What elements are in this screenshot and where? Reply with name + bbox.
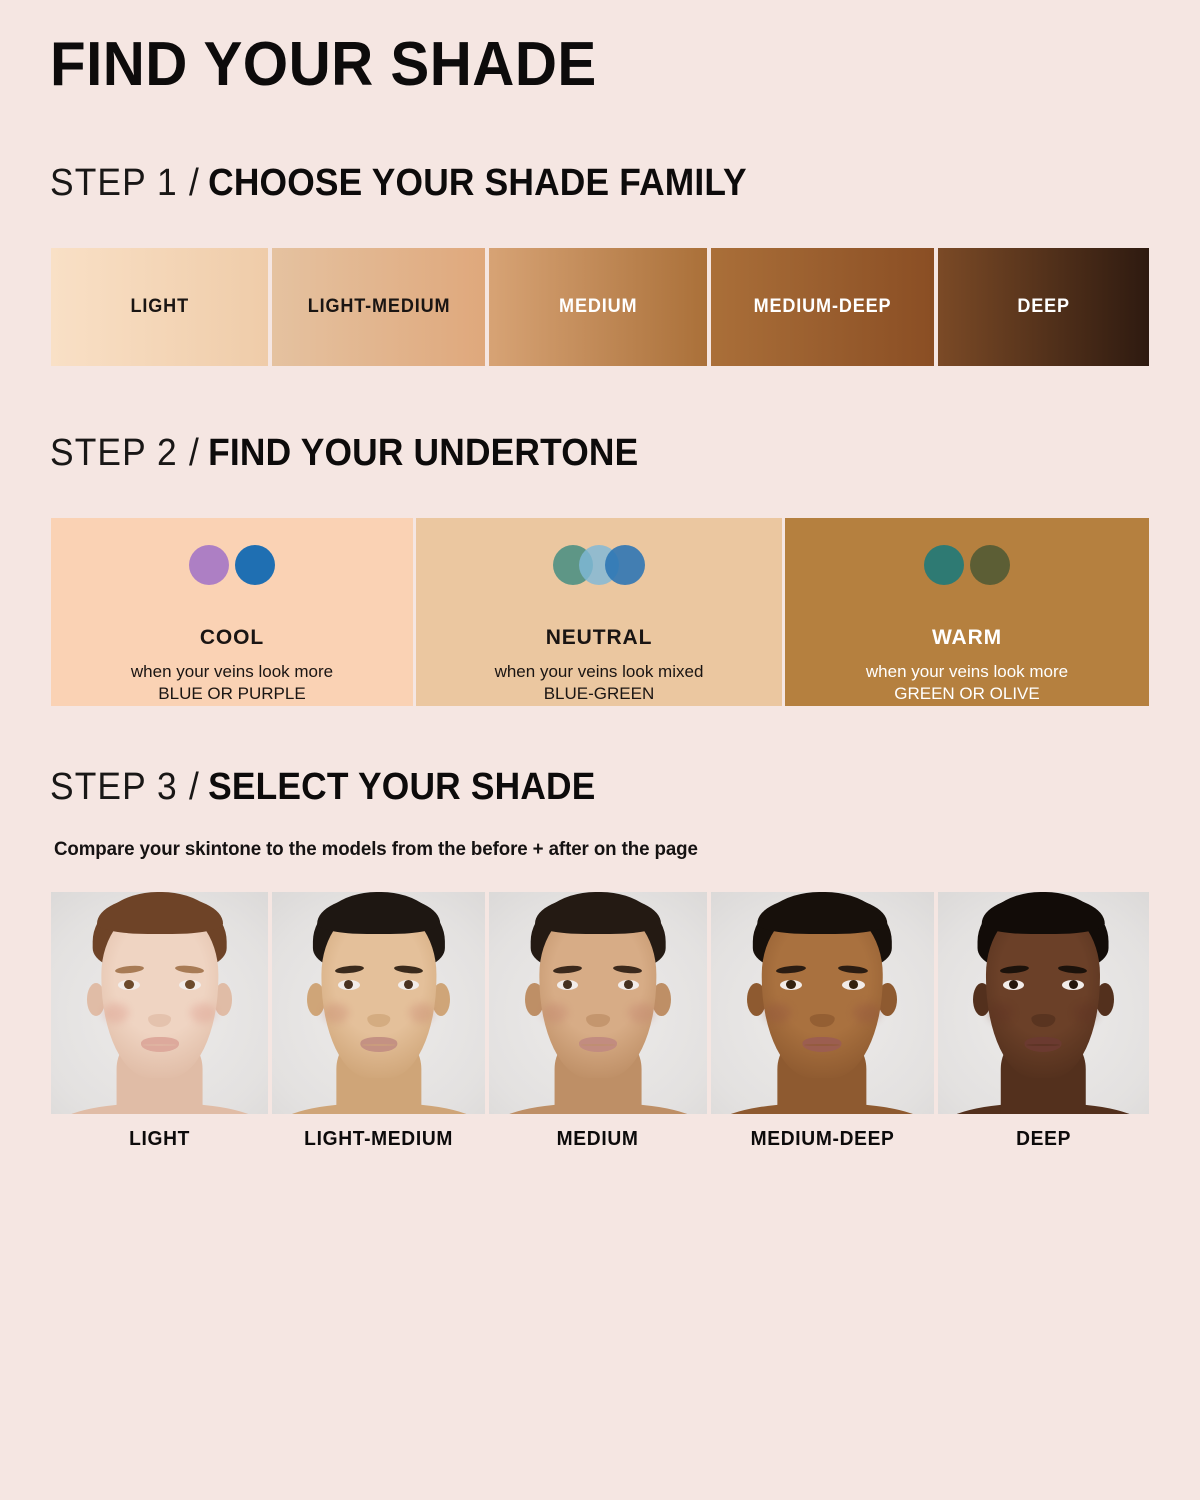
- portrait-cheek-left: [542, 1003, 568, 1023]
- shade-family-medium-deep[interactable]: MEDIUM-DEEP: [711, 248, 934, 366]
- undertone-title: NEUTRAL: [546, 627, 653, 648]
- model-portrait: [938, 892, 1149, 1114]
- undertone-description: when your veins look moreGREEN OR OLIVE: [866, 661, 1068, 706]
- shade-family-label: LIGHT-MEDIUM: [308, 296, 451, 318]
- model-portrait: [489, 892, 706, 1114]
- step-1-title: CHOOSE YOUR SHADE FAMILY: [208, 162, 747, 204]
- step-2-number: STEP 2: [50, 432, 178, 474]
- undertone-description-line-2: BLUE OR PURPLE: [131, 683, 333, 706]
- model-photo-light[interactable]: [51, 892, 268, 1114]
- step-3-header: STEP 3/SELECT YOUR SHADE: [50, 768, 596, 806]
- portrait-iris-right: [1069, 980, 1078, 989]
- shade-family-light-medium[interactable]: LIGHT-MEDIUM: [272, 248, 485, 366]
- model-photo-medium[interactable]: [489, 892, 706, 1114]
- page-title: FIND YOUR SHADE: [50, 34, 597, 96]
- model-label-medium: MEDIUM: [494, 1118, 703, 1160]
- model-portrait: [711, 892, 934, 1114]
- model-label-light: LIGHT: [55, 1118, 264, 1160]
- step-3-subtitle: Compare your skintone to the models from…: [54, 838, 698, 861]
- model-photo-medium-deep[interactable]: [711, 892, 934, 1114]
- undertone-panel-cool[interactable]: COOLwhen your veins look moreBLUE OR PUR…: [51, 518, 413, 706]
- undertone-description: when your veins look mixedBLUE-GREEN: [495, 661, 704, 706]
- shade-family-deep[interactable]: DEEP: [938, 248, 1149, 366]
- undertone-description: when your veins look moreBLUE OR PURPLE: [131, 661, 333, 706]
- portrait-cheek-left: [323, 1003, 349, 1023]
- teal-dot: [924, 545, 964, 585]
- model-label-deep: DEEP: [942, 1118, 1145, 1160]
- shade-family-medium[interactable]: MEDIUM: [489, 248, 706, 366]
- shade-family-bar: LIGHTLIGHT-MEDIUMMEDIUMMEDIUM-DEEPDEEP: [51, 248, 1149, 366]
- portrait-cheek-right: [1073, 1003, 1098, 1023]
- step-2-header: STEP 2/FIND YOUR UNDERTONE: [50, 434, 638, 472]
- shade-family-label: MEDIUM: [559, 296, 637, 318]
- step-1-header: STEP 1/CHOOSE YOUR SHADE FAMILY: [50, 164, 747, 202]
- step-3-number: STEP 3: [50, 766, 178, 808]
- step-3-title: SELECT YOUR SHADE: [208, 766, 595, 808]
- portrait-cheek-left: [764, 1003, 791, 1023]
- step-2-title: FIND YOUR UNDERTONE: [208, 432, 638, 474]
- model-portrait: [51, 892, 268, 1114]
- purple-dot: [189, 545, 229, 585]
- find-your-shade-infographic: FIND YOUR SHADE STEP 1/CHOOSE YOUR SHADE…: [0, 0, 1200, 1500]
- model-label-light-medium: LIGHT-MEDIUM: [276, 1118, 481, 1160]
- portrait-cheek-right: [190, 1003, 216, 1023]
- model-photo-row: [51, 892, 1149, 1114]
- undertone-swatch-group: [189, 545, 275, 588]
- portrait-cheek-left: [988, 1003, 1013, 1023]
- undertone-title: WARM: [932, 627, 1002, 648]
- step-2-separator: /: [178, 432, 208, 474]
- olive-dot: [970, 545, 1010, 585]
- undertone-description-line-1: when your veins look more: [131, 661, 333, 684]
- undertone-panel-warm[interactable]: WARMwhen your veins look moreGREEN OR OL…: [785, 518, 1149, 706]
- model-photo-light-medium[interactable]: [272, 892, 485, 1114]
- undertone-panel-neutral[interactable]: NEUTRALwhen your veins look mixedBLUE-GR…: [416, 518, 782, 706]
- shade-family-label: MEDIUM-DEEP: [753, 296, 891, 318]
- shade-family-label: DEEP: [1017, 296, 1070, 318]
- model-photo-deep[interactable]: [938, 892, 1149, 1114]
- undertone-panels: COOLwhen your veins look moreBLUE OR PUR…: [51, 518, 1149, 706]
- portrait-cheek-right: [628, 1003, 654, 1023]
- model-label-row: LIGHTLIGHT-MEDIUMMEDIUMMEDIUM-DEEPDEEP: [51, 1118, 1149, 1160]
- blue-dot: [605, 545, 645, 585]
- shade-family-label: LIGHT: [130, 296, 188, 318]
- model-label-medium-deep: MEDIUM-DEEP: [715, 1118, 929, 1160]
- undertone-description-line-2: GREEN OR OLIVE: [866, 683, 1068, 706]
- portrait-cheek-right: [409, 1003, 435, 1023]
- undertone-description-line-1: when your veins look more: [866, 661, 1068, 684]
- undertone-description-line-1: when your veins look mixed: [495, 661, 704, 684]
- step-1-separator: /: [178, 162, 208, 204]
- step-3-separator: /: [178, 766, 208, 808]
- undertone-description-line-2: BLUE-GREEN: [495, 683, 704, 706]
- portrait-cheek-left: [103, 1003, 129, 1023]
- step-1-number: STEP 1: [50, 162, 178, 204]
- model-portrait: [272, 892, 485, 1114]
- undertone-title: COOL: [200, 627, 264, 648]
- blue-dot: [235, 545, 275, 585]
- shade-family-light[interactable]: LIGHT: [51, 248, 268, 366]
- undertone-swatch-group: [553, 545, 645, 588]
- undertone-swatch-group: [924, 545, 1010, 588]
